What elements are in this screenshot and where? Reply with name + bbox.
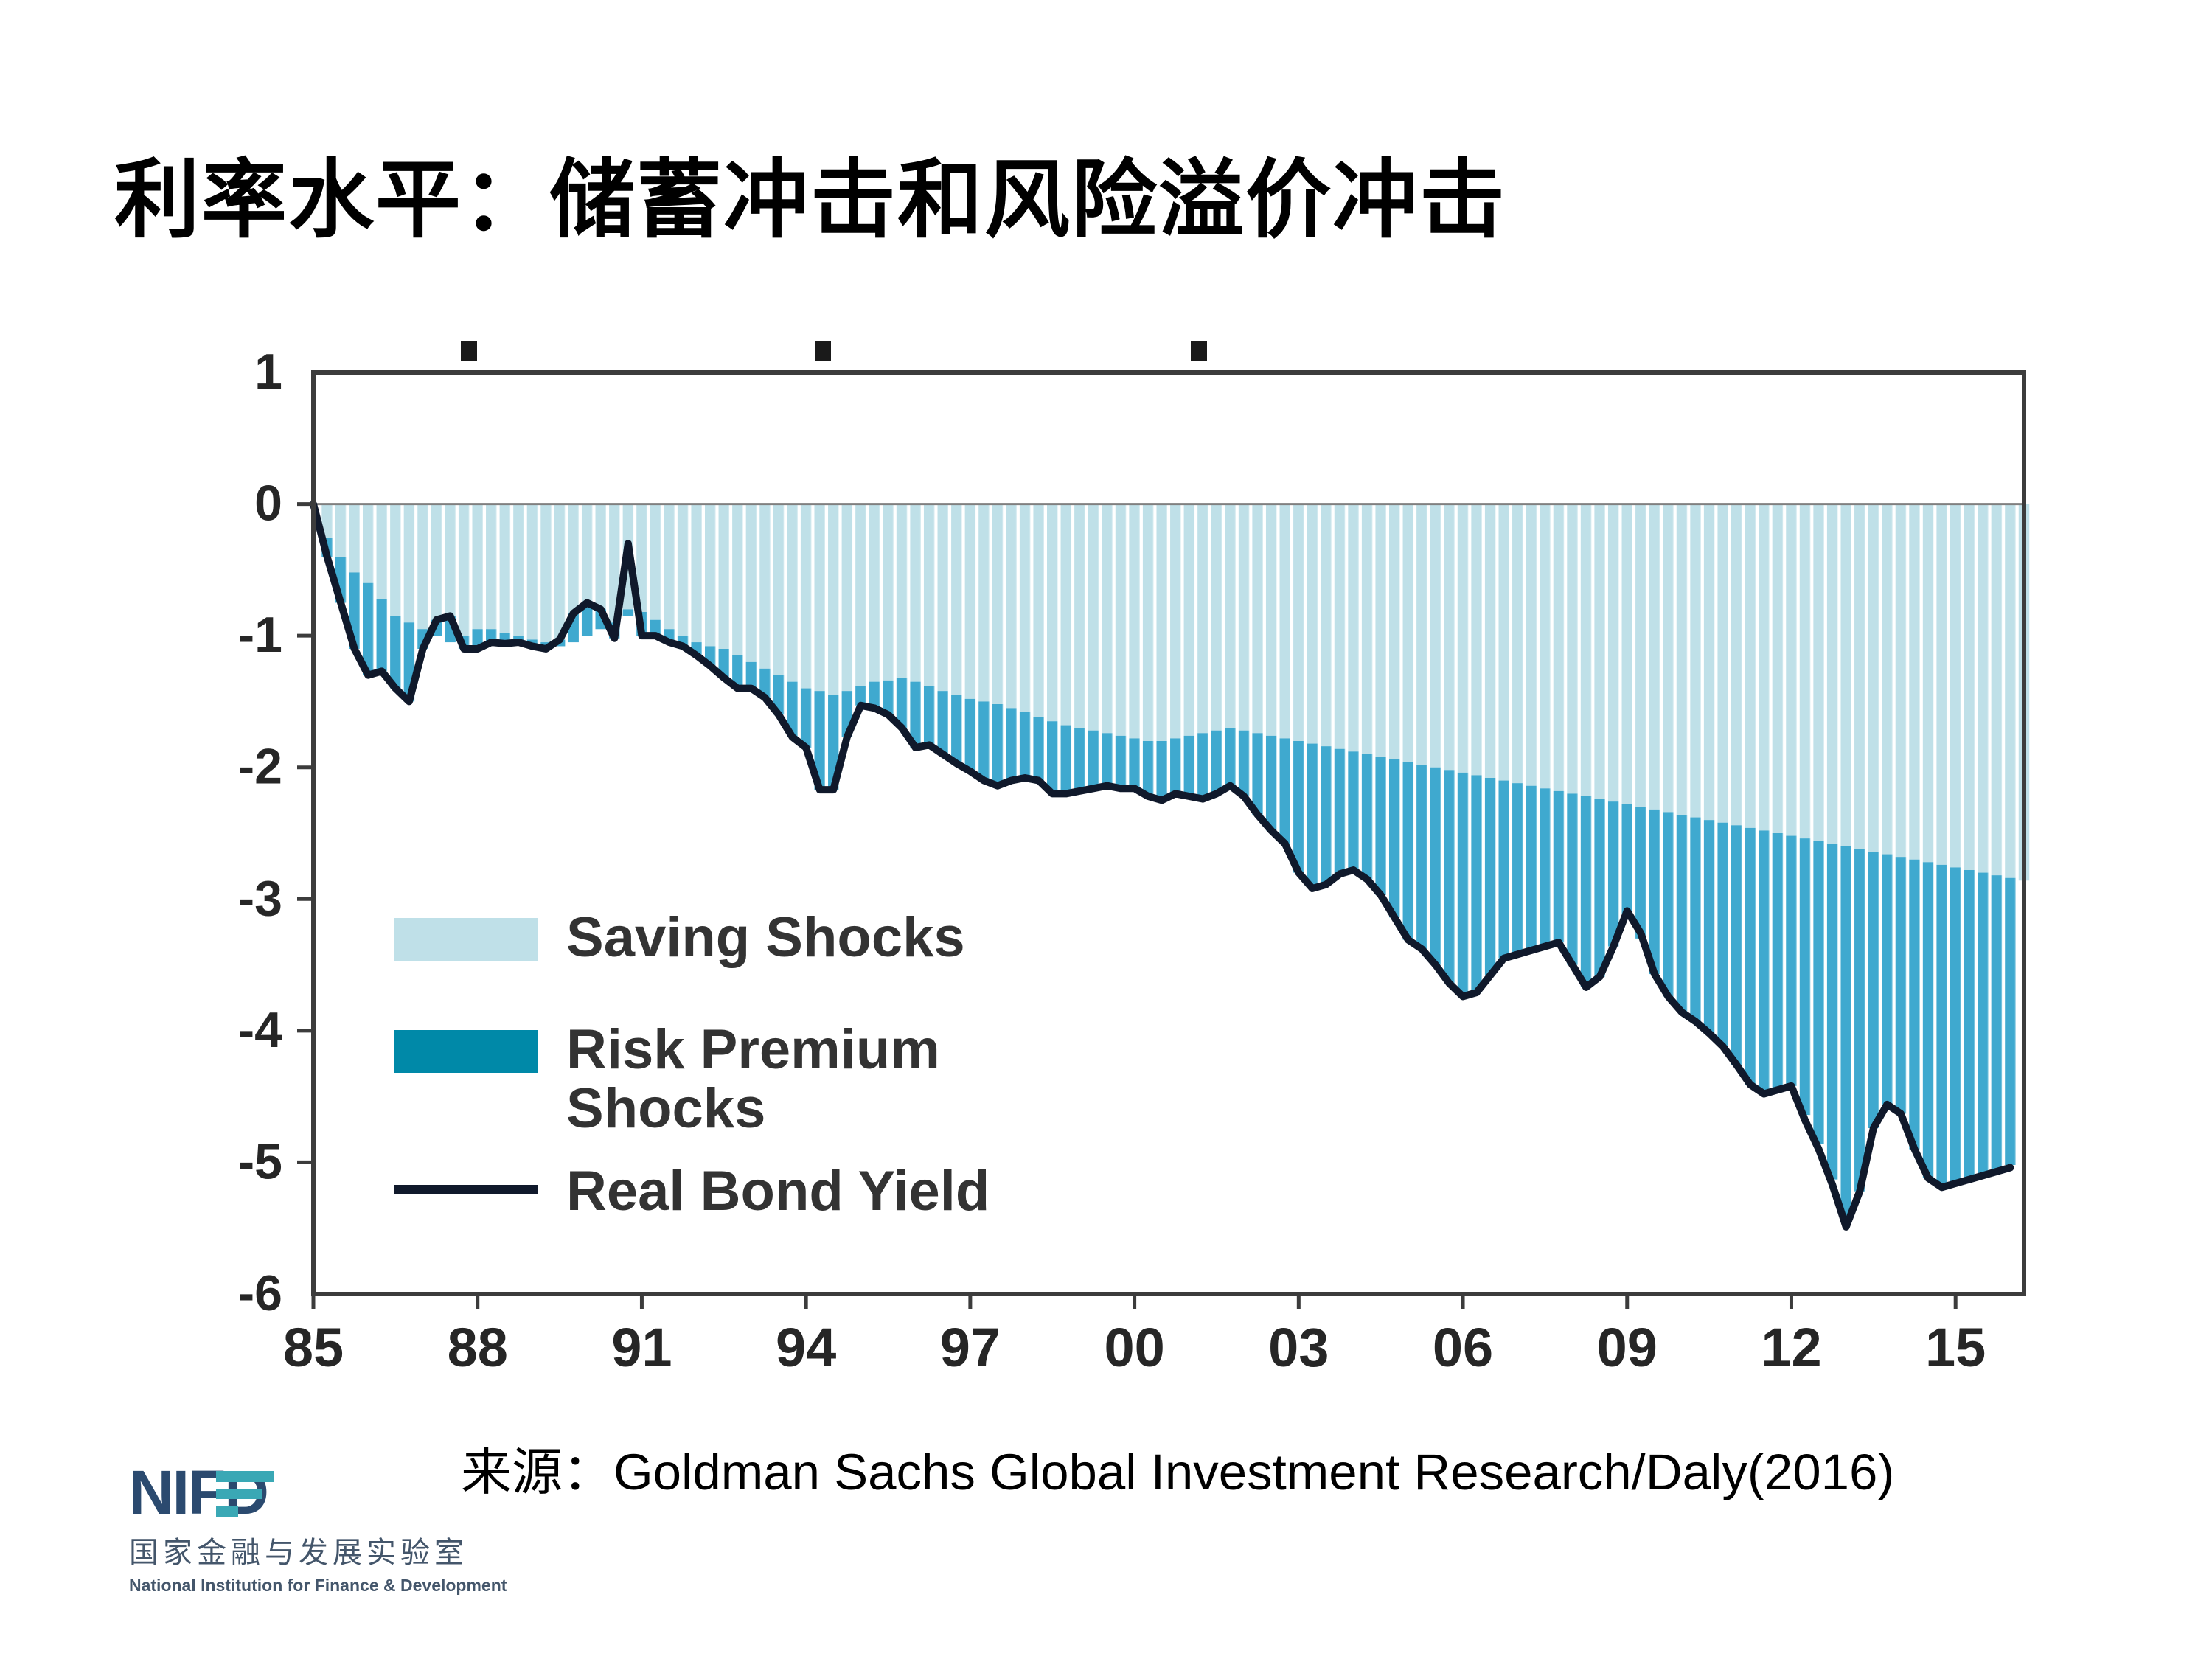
bar-saving-shocks [924,504,934,686]
bar-saving-shocks [1129,504,1139,739]
bar-risk-premium-shocks [1800,838,1810,1115]
bar-risk-premium-shocks [1020,712,1030,778]
bar-saving-shocks [1731,504,1742,826]
bar-risk-premium-shocks [1526,786,1537,950]
x-tick-label: 06 [1433,1317,1493,1378]
x-tick-label: 09 [1597,1317,1658,1378]
bar-risk-premium-shocks [1471,775,1481,992]
nifd-logo: NIFD 国家金融与发展实验室 National Institution for… [129,1464,439,1611]
bar-risk-premium-shocks [1430,768,1441,965]
bar-saving-shocks [1978,504,1988,873]
logo-f-bars-icon [216,1471,274,1517]
bar-risk-premium-shocks [1554,791,1564,942]
source-caption: 来源：Goldman Sachs Global Investment Resea… [461,1430,1894,1504]
bar-saving-shocks [1773,504,1783,833]
logo-name-cn: 国家金融与发展实验室 [129,1528,439,1571]
y-tick-label: -6 [238,1265,282,1321]
legend-swatch-saving-shocks [394,918,538,961]
bar-saving-shocks [540,504,551,643]
bar-risk-premium-shocks [1745,828,1756,1085]
bar-saving-shocks [1909,504,1919,860]
bar-saving-shocks [1936,504,1947,865]
bar-saving-shocks [1061,504,1071,726]
bar-risk-premium-shocks [1129,738,1139,788]
bar-risk-premium-shocks [1444,770,1454,983]
bar-risk-premium-shocks [1074,728,1085,791]
clipped-header-marks [461,341,1207,361]
bar-risk-premium-shocks [1813,841,1823,1144]
legend-swatch-risk-premium-shocks [394,1030,538,1073]
bar-risk-premium-shocks [1116,736,1126,788]
x-tick-label: 91 [611,1317,672,1378]
bar-risk-premium-shocks [1909,860,1919,1150]
bar-saving-shocks [897,504,907,678]
bar-saving-shocks [363,504,373,583]
bar-saving-shocks [650,504,661,620]
bar-saving-shocks [678,504,688,636]
bar-saving-shocks [1485,504,1495,778]
bar-saving-shocks [1020,504,1030,712]
bar-saving-shocks [459,504,469,636]
bar-saving-shocks [486,504,496,630]
bar-saving-shocks [1293,504,1304,741]
bar-saving-shocks [513,504,524,636]
bar-risk-premium-shocks [965,699,975,771]
bar-saving-shocks [938,504,948,692]
bar-risk-premium-shocks [1717,823,1728,1047]
bar-risk-premium-shocks [1197,733,1208,799]
bar-risk-premium-shocks [1759,830,1769,1093]
bar-saving-shocks [1745,504,1756,828]
bar-saving-shocks [377,504,387,599]
bar-saving-shocks [1143,504,1153,741]
bar-saving-shocks [842,504,852,692]
bar-risk-premium-shocks [1485,778,1495,975]
bar-risk-premium-shocks [1498,781,1509,959]
bar-saving-shocks [1704,504,1714,821]
bar-saving-shocks [1211,504,1222,731]
bar-risk-premium-shocks [1992,875,2002,1172]
bar-saving-shocks [978,504,989,702]
bar-risk-premium-shocks [2005,878,2015,1165]
bar-saving-shocks [1266,504,1276,736]
bar-saving-shocks [1663,504,1673,813]
bar-risk-premium-shocks [1936,865,1947,1188]
bar-risk-premium-shocks [1704,820,1714,1033]
logo-wordmark: NIFD [129,1464,350,1521]
bar-risk-premium-shocks [1293,741,1304,873]
bar-saving-shocks [335,504,346,557]
bar-saving-shocks [801,504,811,689]
x-tick-label: 88 [448,1317,508,1378]
bar-saving-shocks [1800,504,1810,839]
bar-risk-premium-shocks [1964,870,1975,1180]
bar-saving-shocks [773,504,784,675]
bar-risk-premium-shocks [1362,754,1372,880]
bar-saving-shocks [965,504,975,699]
bar-saving-shocks [814,504,824,692]
bar-risk-premium-shocks [1225,728,1235,786]
bar-risk-premium-shocks [390,616,400,688]
bar-saving-shocks [1540,504,1550,789]
bar-saving-shocks [1006,504,1016,709]
logo-name-en: National Institution for Finance & Devel… [129,1576,439,1596]
bar-saving-shocks [855,504,866,686]
bar-risk-premium-shocks [1827,844,1837,1179]
bar-saving-shocks [1184,504,1194,736]
bar-risk-premium-shocks [1006,708,1016,780]
bar-saving-shocks [472,504,482,630]
bar-saving-shocks [705,504,715,647]
legend-label-real-bond-yield: Real Bond Yield [566,1160,990,1222]
bar-saving-shocks [1840,504,1851,846]
bar-risk-premium-shocks [1649,810,1660,974]
bar-saving-shocks [1335,504,1345,749]
bar-risk-premium-shocks [1786,836,1796,1086]
bar-risk-premium-shocks [1307,744,1318,888]
bar-saving-shocks [1813,504,1823,841]
bar-saving-shocks [349,504,359,573]
x-tick-label: 94 [776,1317,836,1378]
bar-risk-premium-shocks [1608,801,1618,946]
bar-risk-premium-shocks [1143,741,1153,796]
bar-risk-premium-shocks [1348,751,1358,870]
bar-saving-shocks [1526,504,1537,786]
bar-risk-premium-shocks [1184,736,1194,796]
bar-risk-premium-shocks [1088,731,1099,789]
bar-saving-shocks [746,504,757,662]
bar-risk-premium-shocks [1239,731,1249,796]
x-tick-label: 85 [283,1317,344,1378]
bar-risk-premium-shocks [1252,733,1262,815]
bar-saving-shocks [1827,504,1837,844]
y-tick-label: -3 [238,870,282,926]
bar-saving-shocks [910,504,920,682]
bar-saving-shocks [1923,504,1933,863]
x-tick-label: 15 [1925,1317,1986,1378]
bar-risk-premium-shocks [1923,862,1933,1178]
bar-saving-shocks [1444,504,1454,771]
bar-saving-shocks [732,504,742,655]
bar-saving-shocks [1594,504,1604,799]
stacked-bar-chart: 10-1-2-3-4-5-68588919497000306091215Savi… [184,335,2072,1390]
y-tick-label: 1 [254,344,282,400]
bar-saving-shocks [390,504,400,616]
slide: 利率水平：储蓄冲击和风险溢价冲击 10-1-2-3-4-5-6858891949… [0,0,2212,1659]
y-tick-label: -2 [238,739,282,795]
bar-saving-shocks [1498,504,1509,781]
bar-risk-premium-shocks [1731,825,1742,1065]
bar-risk-premium-shocks [1416,765,1427,949]
legend-label-risk-premium-shocks-line2: Shocks [566,1077,765,1140]
y-axis: 10-1-2-3-4-5-6 [238,344,313,1321]
x-tick-label: 97 [940,1317,1001,1378]
bar-saving-shocks [1567,504,1577,794]
bar-saving-shocks [1581,504,1591,796]
bar-saving-shocks [1225,504,1235,728]
bar-saving-shocks [759,504,770,669]
bar-saving-shocks [1375,504,1385,757]
bar-saving-shocks [1622,504,1632,804]
bar-risk-premium-shocks [1047,721,1057,793]
bar-risk-premium-shocks [1061,726,1071,794]
legend-label-risk-premium-shocks: Risk Premium [566,1018,940,1081]
chart-container: 10-1-2-3-4-5-68588919497000306091215Savi… [184,335,2072,1390]
bar-saving-shocks [1690,504,1700,818]
bar-risk-premium-shocks [1567,793,1577,964]
bar-risk-premium-shocks [1677,815,1687,1012]
header-mark [815,341,831,361]
bar-risk-premium-shocks [1581,796,1591,987]
bar-saving-shocks [1786,504,1796,836]
bar-risk-premium-shocks [1280,738,1290,844]
bar-saving-shocks [1047,504,1057,722]
bar-saving-shocks [1964,504,1975,870]
bar-saving-shocks [404,504,414,623]
bar-risk-premium-shocks [1690,818,1700,1022]
bar-saving-shocks [1635,504,1646,807]
bar-saving-shocks [1554,504,1564,791]
bar-risk-premium-shocks [951,695,961,764]
x-tick-label: 12 [1761,1317,1821,1378]
bar-saving-shocks [1992,504,2002,876]
plot-area [313,335,2029,1294]
bar-saving-shocks [951,504,961,695]
bar-saving-shocks [1116,504,1126,736]
bar-saving-shocks [1102,504,1112,734]
page-title: 利率水平：储蓄冲击和风险溢价冲击 [114,151,1958,249]
bar-saving-shocks [500,504,510,633]
bar-risk-premium-shocks [978,701,989,780]
bar-risk-premium-shocks [1622,804,1632,917]
bar-saving-shocks [1759,504,1769,831]
bar-saving-shocks [1403,504,1413,762]
bar-risk-premium-shocks [746,662,757,689]
x-axis: 8588919497000306091215 [283,1294,1986,1378]
bar-saving-shocks [828,504,838,695]
bar-saving-shocks [1430,504,1441,768]
bar-saving-shocks [883,504,893,681]
bar-saving-shocks [992,504,1003,704]
bar-saving-shocks [1307,504,1318,744]
bar-risk-premium-shocks [1896,857,1906,1113]
bar-saving-shocks [1170,504,1180,739]
bar-saving-shocks [1471,504,1481,776]
bar-saving-shocks [1416,504,1427,765]
bar-saving-shocks [1197,504,1208,734]
bar-risk-premium-shocks [924,686,934,745]
bar-saving-shocks [1896,504,1906,858]
y-tick-label: -1 [238,607,282,663]
bar-saving-shocks [664,504,674,630]
bar-risk-premium-shocks [801,689,811,748]
bar-saving-shocks [1717,504,1728,823]
bar-saving-shocks [1239,504,1249,731]
bar-saving-shocks [1512,504,1523,784]
bar-saving-shocks [1950,504,1961,868]
bar-risk-premium-shocks [1156,741,1166,800]
bar-saving-shocks [1321,504,1331,747]
bar-risk-premium-shocks [377,599,387,671]
bar-risk-premium-shocks [623,609,633,616]
bar-risk-premium-shocks [992,704,1003,786]
bar-saving-shocks [417,504,428,630]
bar-risk-premium-shocks [1389,759,1399,917]
bar-risk-premium-shocks [1102,733,1112,785]
bar-saving-shocks [1348,504,1358,752]
bar-saving-shocks [1389,504,1399,759]
bar-risk-premium-shocks [1840,846,1851,1222]
bar-risk-premium-shocks [1033,717,1043,781]
bar-risk-premium-shocks [1266,736,1276,831]
bar-risk-premium-shocks [1458,773,1468,997]
bar-risk-premium-shocks [1950,867,1961,1183]
bar-risk-premium-shocks [1321,746,1331,885]
bar-risk-premium-shocks [1635,807,1646,939]
bar-risk-premium-shocks [1594,799,1604,977]
bar-risk-premium-shocks [1868,852,1879,1128]
bar-risk-premium-shocks [1170,738,1180,793]
bar-saving-shocks [527,504,538,640]
bar-saving-shocks [1649,504,1660,810]
x-tick-label: 00 [1104,1317,1164,1378]
bar-risk-premium-shocks [1773,833,1783,1090]
legend-label-saving-shocks: Saving Shocks [566,906,965,969]
bar-risk-premium-shocks [938,691,948,754]
bar-risk-premium-shocks [1211,731,1222,794]
bar-risk-premium-shocks [1403,762,1413,940]
bar-saving-shocks [787,504,797,682]
bar-saving-shocks [691,504,701,643]
bar-saving-shocks [1854,504,1865,849]
bar-risk-premium-shocks [1882,855,1892,1105]
y-tick-label: -5 [238,1133,282,1189]
y-tick-label: -4 [238,1002,283,1058]
bar-risk-premium-shocks [1540,788,1550,946]
header-mark [461,341,477,361]
bar-saving-shocks [869,504,880,682]
bar-saving-shocks [1868,504,1879,852]
bar-risk-premium-shocks [1854,849,1865,1191]
bar-risk-premium-shocks [1978,873,1988,1176]
bar-risk-premium-shocks [1512,783,1523,954]
bar-saving-shocks [1677,504,1687,815]
y-tick-label: 0 [254,476,282,532]
bar-saving-shocks [1362,504,1372,754]
bar-saving-shocks [1074,504,1085,728]
bar-risk-premium-shocks [1335,749,1345,874]
bar-risk-premium-shocks [1663,812,1673,996]
header-mark [1191,341,1207,361]
bar-risk-premium-shocks [1375,757,1385,895]
bar-saving-shocks [1280,504,1290,739]
bar-saving-shocks [2005,504,2015,878]
bar-saving-shocks [1882,504,1892,855]
bar-saving-shocks [1252,504,1262,734]
bar-saving-shocks [1033,504,1043,717]
bar-saving-shocks [1608,504,1618,802]
bar-saving-shocks [1458,504,1468,773]
bar-saving-shocks [1156,504,1166,741]
x-tick-label: 03 [1268,1317,1329,1378]
bar-saving-shocks [1088,504,1099,731]
bar-saving-shocks [719,504,729,649]
